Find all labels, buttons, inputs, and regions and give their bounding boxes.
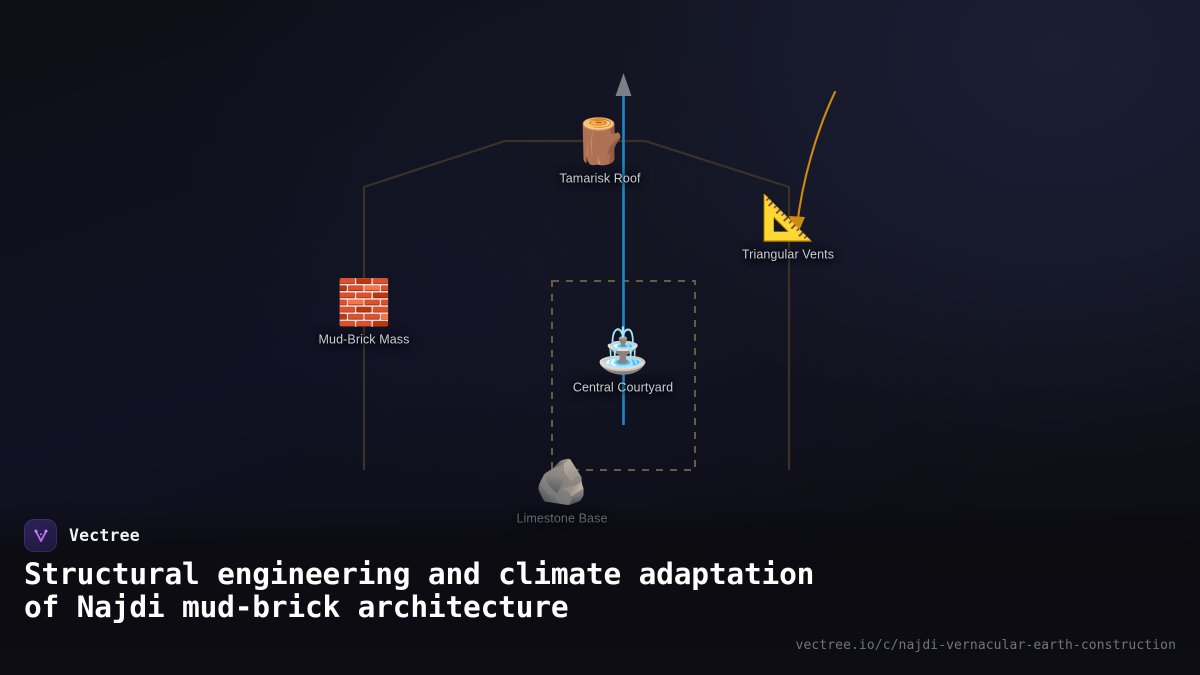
node-label: Mud-Brick Mass: [319, 333, 410, 347]
brick-icon: 🧱: [337, 280, 392, 328]
vectree-logo-icon: [24, 519, 57, 552]
node-label: Central Courtyard: [573, 381, 673, 395]
updraft-arrowhead-icon: [616, 73, 632, 96]
node-central-courtyard[interactable]: ⛲ Central Courtyard: [528, 328, 718, 395]
node-label: Tamarisk Roof: [559, 172, 640, 186]
node-label: Triangular Vents: [742, 248, 834, 262]
node-triangular-vents[interactable]: 📐 Triangular Vents: [693, 195, 883, 262]
node-mud-brick-mass[interactable]: 🧱 Mud-Brick Mass: [269, 280, 459, 347]
wood-log-icon: 🪵: [573, 119, 628, 167]
rock-icon: 🪨: [535, 459, 590, 507]
node-tamarisk-roof[interactable]: 🪵 Tamarisk Roof: [505, 119, 695, 186]
source-url: vectree.io/c/najdi-vernacular-earth-cons…: [796, 638, 1176, 653]
fountain-icon: ⛲: [596, 328, 651, 376]
diagram-canvas: 🪵 Tamarisk Roof 📐 Triangular Vents 🧱 Mud…: [0, 0, 1200, 675]
triangular-ruler-icon: 📐: [761, 195, 816, 243]
brand[interactable]: Vectree: [24, 519, 140, 552]
footer-overlay: Vectree Structural engineering and clima…: [0, 503, 1200, 675]
brand-name: Vectree: [69, 526, 140, 545]
page-title: Structural engineering and climate adapt…: [24, 558, 824, 623]
